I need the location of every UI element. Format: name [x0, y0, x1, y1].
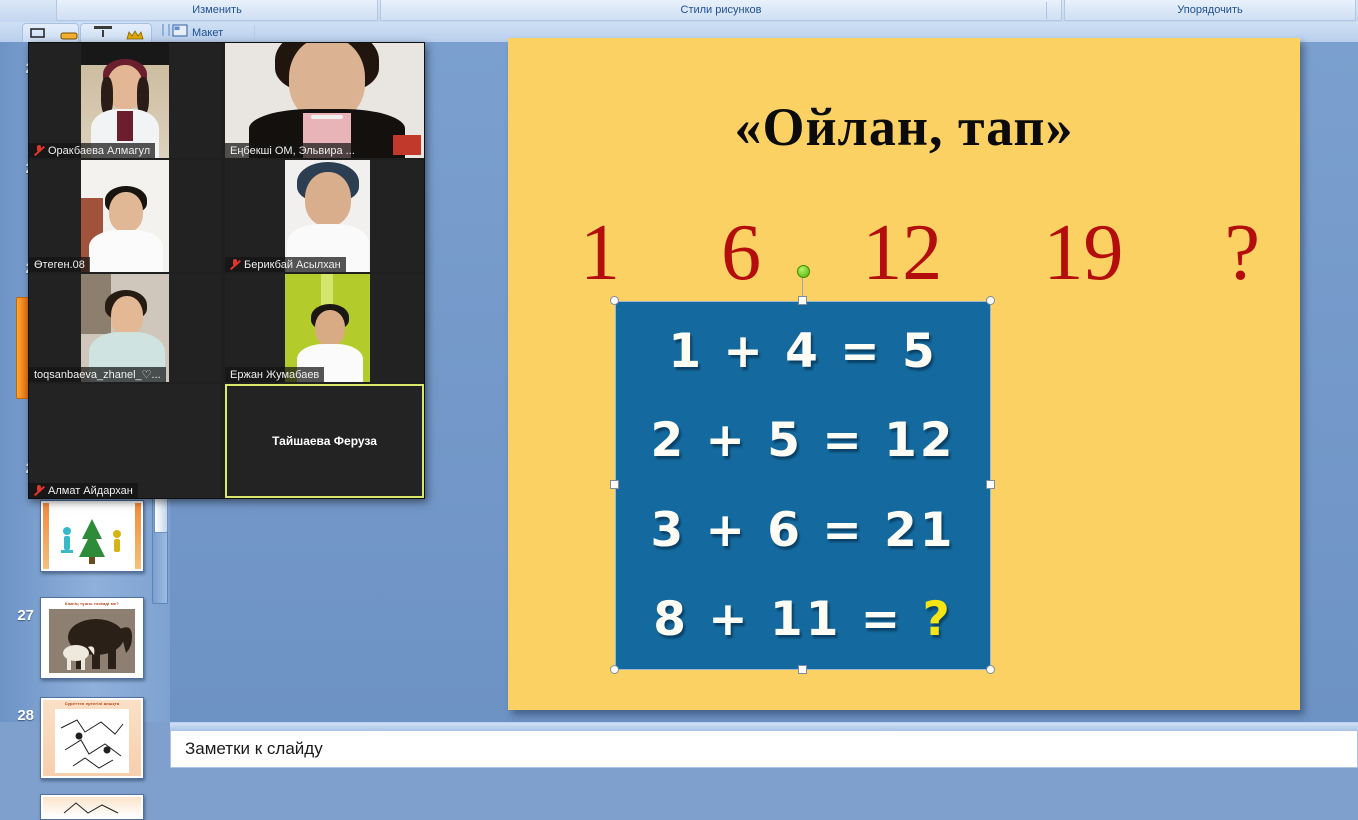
notes-placeholder[interactable]: Заметки к слайду [185, 739, 323, 759]
participant-name-bar: Берикбай Асылхан [225, 257, 346, 272]
participant-video [225, 43, 424, 158]
participant-name-bar: Ержан Жумабаев [225, 367, 324, 382]
sequence-item: 19 [1043, 208, 1123, 299]
current-slide[interactable]: «Ойлан, тап» 1 6 12 19 ? 1 + 4 = 5 2 + 5… [508, 38, 1300, 710]
ribbon-divider [1046, 2, 1047, 19]
participant-name: Өтеген.08 [34, 259, 85, 271]
participant-name-bar: toqsanbaeva_zhanel_♡... [29, 367, 166, 382]
participant-video [225, 160, 424, 272]
participant-name-bar: Өтеген.08 [29, 257, 90, 272]
participant-video [29, 160, 221, 272]
slide-title[interactable]: «Ойлан, тап» [508, 96, 1300, 158]
ribbon-group-label: Упорядочить [1177, 4, 1242, 16]
resize-handle-bottom-center[interactable] [798, 665, 807, 674]
slide-thumbnail[interactable]: Суреттен ертегіні анықта [40, 697, 144, 779]
slide-thumbnail[interactable] [40, 794, 144, 820]
thumbnail-title: Суреттен ертегіні анықта [43, 701, 141, 706]
sequence-item: 12 [862, 208, 942, 299]
participant-name-bar: Алмат Айдархан [29, 483, 138, 498]
ribbon-group-label: Стили рисунков [681, 4, 762, 16]
mic-muted-icon [34, 485, 44, 496]
sequence-item: ? [1224, 208, 1260, 299]
participant-tile[interactable]: Берикбай Асылхан [225, 160, 424, 272]
ribbon-group-label: Изменить [192, 4, 242, 16]
participant-tile[interactable]: toqsanbaeva_zhanel_♡... [29, 274, 221, 382]
slide-number: 27 [10, 607, 34, 624]
resize-handle-middle-left[interactable] [610, 480, 619, 489]
rotate-handle-icon[interactable] [797, 265, 810, 278]
sequence-item: 6 [721, 208, 761, 299]
participant-name: Оракбаева Алмагул [48, 145, 150, 157]
ribbon-group-uporyadochit[interactable]: Упорядочить [1064, 0, 1356, 21]
participant-video [29, 43, 221, 158]
participant-tile[interactable]: Ержан Жумабаев [225, 274, 424, 382]
sequence-item: 1 [580, 208, 620, 299]
participant-tile[interactable]: Еңбекші ОМ, Эльвира ... [225, 43, 424, 158]
ribbon-group-stili-risunkov[interactable]: Стили рисунков [380, 0, 1062, 21]
participant-video [225, 274, 424, 382]
video-meeting-overlay[interactable]: Оракбаева Алмагул Еңбекші ОМ, Эльвира ..… [28, 42, 425, 499]
participant-name: toqsanbaeva_zhanel_♡... [34, 368, 161, 381]
powerpoint-window: Изменить Стили рисунков Упорядочить [0, 0, 1358, 768]
participant-name: Тайшаева Феруза [227, 386, 422, 496]
participant-name-bar: Оракбаева Алмагул [29, 143, 155, 158]
layout-icon[interactable] [172, 24, 188, 43]
resize-handle-bottom-right[interactable] [986, 665, 995, 674]
participant-tile[interactable]: Өтеген.08 [29, 160, 221, 272]
resize-handle-top-right[interactable] [986, 296, 995, 305]
resize-handle-bottom-left[interactable] [610, 665, 619, 674]
layout-label: Макет [192, 27, 223, 39]
slide-thumbnail[interactable]: Кімнің тұяғы төзімді ме? [40, 597, 144, 679]
ribbon-groups-strip: Изменить Стили рисунков Упорядочить [0, 0, 1358, 23]
participant-name: Еңбекші ОМ, Эльвира ... [230, 145, 355, 157]
slide-number: 28 [10, 707, 34, 724]
participant-name: Ержан Жумабаев [230, 369, 319, 381]
selection-outline [615, 301, 991, 670]
mic-muted-icon [34, 145, 44, 156]
participant-name: Алмат Айдархан [48, 485, 133, 497]
resize-handle-top-left[interactable] [610, 296, 619, 305]
participant-tile-active-speaker[interactable]: Тайшаева Феруза [225, 384, 424, 498]
participant-name-bar: Еңбекші ОМ, Эльвира ... [225, 143, 360, 158]
thumbnail-title: Кімнің тұяғы төзімді ме? [43, 601, 141, 606]
slide-notes-pane[interactable]: Заметки к слайду [170, 730, 1358, 768]
participant-tile[interactable]: Оракбаева Алмагул [29, 43, 221, 158]
selected-picture-group[interactable]: 1 + 4 = 5 2 + 5 = 12 3 + 6 = 21 8 + 11 =… [612, 298, 994, 673]
resize-handle-middle-right[interactable] [986, 480, 995, 489]
resize-handle-top-center[interactable] [798, 296, 807, 305]
number-sequence[interactable]: 1 6 12 19 ? [580, 208, 1260, 299]
slide-thumbnail[interactable] [40, 500, 144, 572]
participant-video [29, 274, 221, 382]
ribbon-tool-tabs: Макет [22, 22, 352, 42]
ribbon-group-izmenit[interactable]: Изменить [56, 0, 378, 21]
participant-name: Берикбай Асылхан [244, 259, 341, 271]
mic-muted-icon [230, 259, 240, 270]
participant-tile[interactable]: Алмат Айдархан [29, 384, 221, 498]
